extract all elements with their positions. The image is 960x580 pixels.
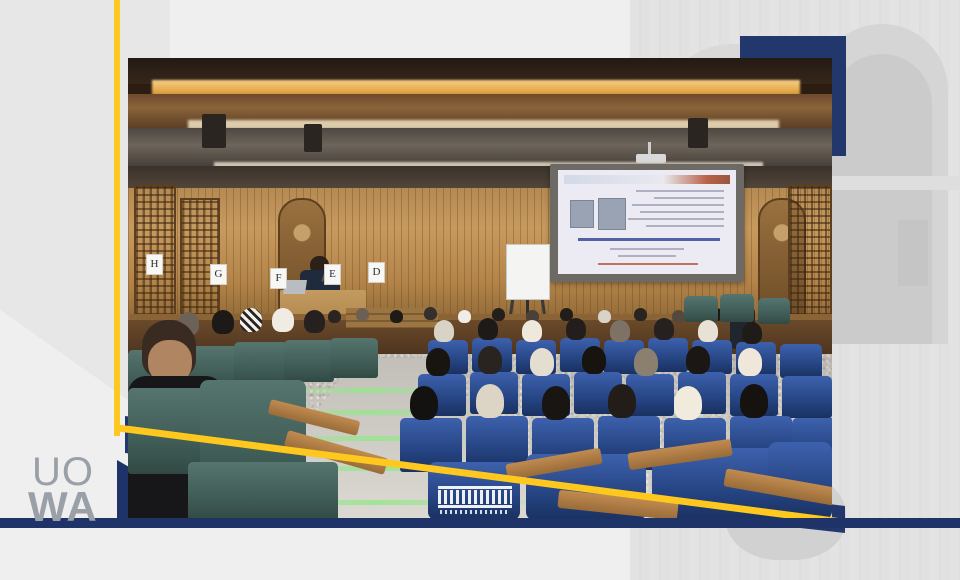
row-sign-g: G — [210, 264, 227, 285]
audience-person — [608, 384, 636, 418]
row-sign-d: D — [368, 262, 385, 283]
slide-title-line — [578, 238, 720, 241]
photo-watermark — [438, 486, 512, 516]
slide-text-line — [628, 218, 724, 220]
seat-foreground — [188, 462, 338, 520]
audience-person — [478, 346, 502, 374]
audience-person — [742, 322, 762, 344]
yellow-vertical-stroke — [114, 0, 120, 436]
audience-person — [738, 348, 762, 376]
audience-person — [522, 320, 542, 342]
audience-person — [530, 348, 554, 376]
ceiling-panel — [128, 128, 832, 166]
slide-text-line — [654, 197, 724, 199]
audience-person — [272, 308, 294, 332]
slide-text-line — [632, 204, 724, 206]
audience-person — [674, 386, 702, 420]
lecture-hall-photo: H G F E D — [128, 58, 832, 520]
ceiling-speaker-right — [688, 118, 708, 148]
seat — [684, 296, 718, 322]
watermark-bottom-rule — [438, 505, 512, 508]
watermark-top-rule — [438, 486, 512, 489]
watermark-subtitle — [440, 510, 510, 514]
audience-person — [542, 386, 570, 420]
audience-person — [478, 318, 498, 340]
projection-screen — [558, 170, 736, 274]
navy-bottom-bar — [0, 518, 960, 528]
slide-text-line — [646, 225, 724, 227]
slide-portrait-2 — [598, 198, 626, 230]
row-sign-f: F — [270, 268, 287, 289]
uowa-logo: UO WA — [28, 452, 118, 534]
ceiling-speaker-mid — [304, 124, 322, 152]
flipchart-board — [506, 244, 550, 300]
audience-person — [740, 384, 768, 418]
audience-head — [458, 310, 471, 323]
row-sign-e: E — [324, 264, 341, 285]
audience-person — [566, 318, 586, 340]
seat — [720, 294, 754, 322]
ceiling-speaker-left — [202, 114, 226, 148]
banner-canvas: H G F E D — [0, 0, 960, 580]
audience-person — [698, 320, 718, 342]
watermark-kufic-script — [438, 490, 512, 504]
slide-footer-line — [598, 263, 698, 265]
audience-person — [410, 386, 438, 420]
slide-portrait-1 — [570, 200, 594, 228]
seat — [780, 344, 822, 378]
audience-person — [434, 320, 454, 342]
audience-person — [582, 346, 606, 374]
audience-person — [304, 310, 325, 333]
audience-head — [424, 307, 437, 320]
slide-header-banner — [564, 175, 730, 184]
audience-head — [492, 308, 505, 321]
audience-head — [390, 310, 403, 323]
projector-mount — [636, 154, 666, 163]
backdrop-arch-right-inner — [832, 54, 932, 344]
audience-head — [356, 308, 369, 321]
seat — [330, 338, 378, 378]
audience-head — [328, 310, 341, 323]
audience-person-patterned-hijab — [240, 308, 262, 332]
audience-person — [426, 348, 450, 376]
audience-person — [634, 348, 658, 376]
seat — [758, 298, 790, 324]
audience-person — [476, 384, 504, 418]
audience-head — [634, 308, 647, 321]
seat — [782, 376, 832, 418]
audience-head — [598, 310, 611, 323]
slide-text-line — [640, 211, 724, 213]
slide-text-line — [636, 190, 724, 192]
audience-person — [686, 346, 710, 374]
audience-person — [212, 310, 234, 334]
audience-person — [654, 318, 674, 340]
uowa-logo-line2: WA — [28, 486, 98, 528]
slide-text-line — [618, 255, 676, 257]
row-sign-h: H — [146, 254, 163, 275]
backdrop-window-side — [898, 220, 928, 286]
audience-person — [610, 320, 630, 342]
slide-text-line — [610, 248, 684, 250]
seat — [284, 340, 334, 382]
